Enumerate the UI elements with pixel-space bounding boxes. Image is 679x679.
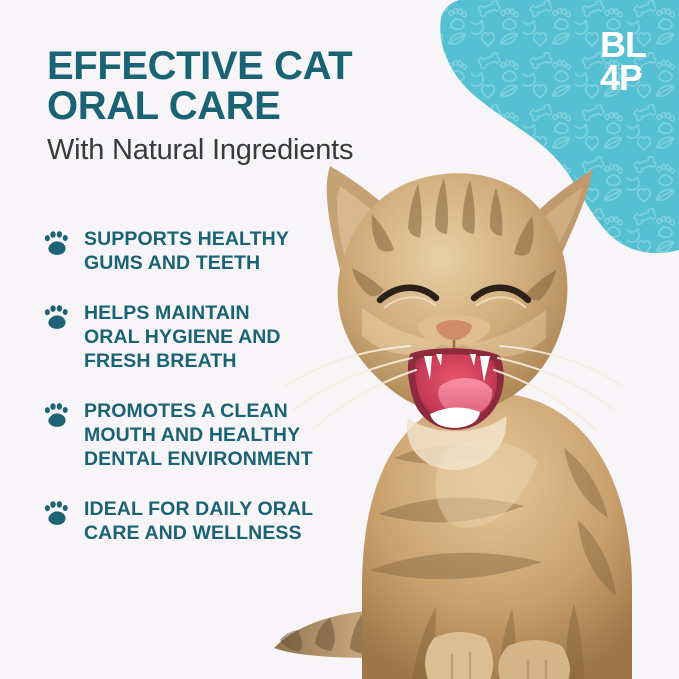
list-item-line: FRESH BREATH [84, 350, 237, 372]
brand-logo: BL 4P [599, 22, 661, 96]
headline-block: EFFECTIVE CAT ORAL CARE With Natural Ing… [47, 47, 387, 166]
page-title-line2: ORAL CARE [47, 87, 387, 127]
page-title-line1: EFFECTIVE CAT [47, 44, 352, 88]
list-item-line: PROMOTES A CLEAN [84, 400, 288, 422]
list-item-label: HELPS MAINTAIN ORAL HYGIENE AND FRESH BR… [84, 302, 281, 374]
list-item-line: CARE AND WELLNESS [84, 522, 302, 544]
cat-eyes [380, 288, 528, 300]
cat-teeth [424, 354, 490, 428]
cat-open-mouth [408, 348, 504, 430]
list-item: HELPS MAINTAIN ORAL HYGIENE AND FRESH BR… [44, 302, 374, 374]
list-item-line: GUMS AND TEETH [84, 252, 260, 274]
page-subtitle: With Natural Ingredients [47, 135, 387, 165]
cat-body [362, 394, 632, 679]
list-item-line: ORAL HYGIENE AND [84, 326, 281, 348]
list-item-line: SUPPORTS HEALTHY [84, 228, 289, 250]
paw-print-icon [44, 304, 70, 330]
list-item: IDEAL FOR DAILY ORAL CARE AND WELLNESS [44, 498, 374, 546]
list-item-line: MOUTH AND HEALTHY [84, 424, 300, 446]
logo-bottom-text: 4P [600, 57, 642, 96]
cat-nose [418, 315, 490, 352]
list-item-label: IDEAL FOR DAILY ORAL CARE AND WELLNESS [84, 498, 313, 546]
list-item-line: IDEAL FOR DAILY ORAL [84, 498, 313, 520]
poster-canvas: BL 4P [0, 0, 679, 679]
cat-front-paws [425, 632, 570, 679]
benefits-list: SUPPORTS HEALTHY GUMS AND TEETH HELPS MA [44, 228, 374, 546]
list-item-label: SUPPORTS HEALTHY GUMS AND TEETH [84, 228, 289, 276]
list-item-label: PROMOTES A CLEAN MOUTH AND HEALTHY DENTA… [84, 400, 313, 472]
cat-tail [274, 610, 474, 658]
list-item-line: DENTAL ENVIRONMENT [84, 448, 313, 470]
paw-print-icon [44, 230, 70, 256]
list-item: PROMOTES A CLEAN MOUTH AND HEALTHY DENTA… [44, 400, 374, 472]
page-title: EFFECTIVE CAT ORAL CARE [47, 47, 387, 126]
paw-print-icon [44, 402, 70, 428]
list-item: SUPPORTS HEALTHY GUMS AND TEETH [44, 228, 374, 276]
paw-print-icon [44, 500, 70, 526]
list-item-line: HELPS MAINTAIN [84, 302, 250, 324]
